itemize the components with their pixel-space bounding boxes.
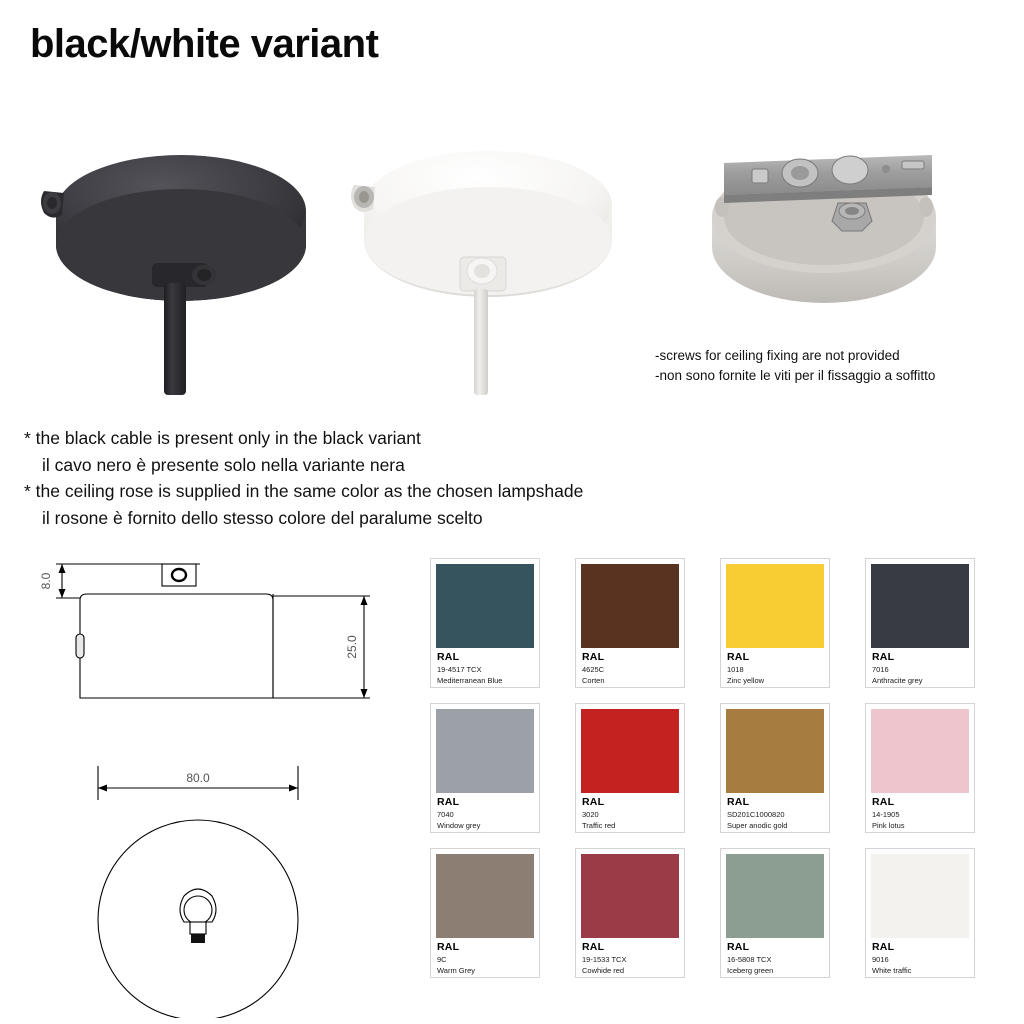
- swatch-name: Traffic red: [582, 820, 678, 831]
- swatch-name: Mediterranean Blue: [437, 675, 533, 686]
- swatch-meta: RAL 9C Warm Grey: [436, 938, 534, 977]
- dim-diameter-label: 80.0: [186, 771, 210, 785]
- swatch-color-chip: [436, 854, 534, 938]
- swatch-brand: RAL: [872, 941, 968, 954]
- interior-bracket-illustration: [690, 125, 960, 355]
- swatch-color-chip: [581, 854, 679, 938]
- swatch-meta: RAL 1018 Zinc yellow: [726, 648, 824, 687]
- swatch-code: 14-1905: [872, 809, 968, 820]
- screws-note: -screws for ceiling fixing are not provi…: [655, 346, 935, 385]
- swatch-name: Zinc yellow: [727, 675, 823, 686]
- screws-note-it: -non sono fornite le viti per il fissagg…: [655, 366, 935, 386]
- white-rose-illustration: [338, 133, 638, 395]
- swatch-color-chip: [436, 709, 534, 793]
- photo-black-ceiling-rose: [36, 133, 326, 395]
- swatch-meta: RAL 19-1533 TCX Cowhide red: [581, 938, 679, 977]
- swatch-name: Pink lotus: [872, 820, 968, 831]
- swatch-color-chip: [871, 709, 969, 793]
- photo-ceiling-rose-interior: [690, 125, 960, 355]
- swatch-color-chip: [581, 709, 679, 793]
- swatch-name: Iceberg green: [727, 965, 823, 976]
- swatch-name: Corten: [582, 675, 678, 686]
- swatch-code: SD201C1000820: [727, 809, 823, 820]
- swatch-code: 4625C: [582, 664, 678, 675]
- swatch-code: 19-4517 TCX: [437, 664, 533, 675]
- swatch-meta: RAL SD201C1000820 Super anodic gold: [726, 793, 824, 832]
- swatch-color-chip: [871, 564, 969, 648]
- swatch-meta: RAL 16-5808 TCX Iceberg green: [726, 938, 824, 977]
- swatch-card[interactable]: RAL 3020 Traffic red: [575, 703, 685, 833]
- photo-white-ceiling-rose: [338, 133, 638, 395]
- swatch-card[interactable]: RAL 9016 White traffic: [865, 848, 975, 978]
- swatch-meta: RAL 7016 Anthracite grey: [871, 648, 969, 687]
- swatch-code: 16-5808 TCX: [727, 954, 823, 965]
- technical-drawings: 8.0 25.0 80.0: [20, 548, 420, 1018]
- swatch-card[interactable]: RAL 9C Warm Grey: [430, 848, 540, 978]
- swatch-card[interactable]: RAL 1018 Zinc yellow: [720, 558, 830, 688]
- swatch-color-chip: [726, 854, 824, 938]
- swatch-card[interactable]: RAL 19-1533 TCX Cowhide red: [575, 848, 685, 978]
- swatch-code: 9016: [872, 954, 968, 965]
- swatch-meta: RAL 3020 Traffic red: [581, 793, 679, 832]
- swatch-card[interactable]: RAL 7016 Anthracite grey: [865, 558, 975, 688]
- drawing-canvas: 8.0 25.0 80.0: [20, 548, 420, 1018]
- note-2-it: il rosone è fornito dello stesso colore …: [24, 505, 583, 532]
- swatch-brand: RAL: [727, 651, 823, 664]
- swatch-color-chip: [871, 854, 969, 938]
- swatch-brand: RAL: [437, 796, 533, 809]
- swatch-meta: RAL 14-1905 Pink lotus: [871, 793, 969, 832]
- swatch-brand: RAL: [582, 796, 678, 809]
- swatch-card[interactable]: RAL 19-4517 TCX Mediterranean Blue: [430, 558, 540, 688]
- swatch-color-chip: [581, 564, 679, 648]
- swatch-card[interactable]: RAL 14-1905 Pink lotus: [865, 703, 975, 833]
- swatch-brand: RAL: [437, 651, 533, 664]
- swatch-meta: RAL 19-4517 TCX Mediterranean Blue: [436, 648, 534, 687]
- swatch-name: White traffic: [872, 965, 968, 976]
- swatch-brand: RAL: [437, 941, 533, 954]
- swatch-code: 1018: [727, 664, 823, 675]
- swatch-name: Warm Grey: [437, 965, 533, 976]
- swatch-code: 7040: [437, 809, 533, 820]
- variant-notes: * the black cable is present only in the…: [24, 425, 583, 531]
- swatch-name: Super anodic gold: [727, 820, 823, 831]
- swatch-color-chip: [726, 709, 824, 793]
- dim-height-label: 8.0: [39, 572, 53, 589]
- swatch-meta: RAL 4625C Corten: [581, 648, 679, 687]
- swatch-code: 3020: [582, 809, 678, 820]
- note-1-it: il cavo nero è presente solo nella varia…: [24, 452, 583, 479]
- swatch-name: Anthracite grey: [872, 675, 968, 686]
- swatch-brand: RAL: [582, 651, 678, 664]
- swatch-card[interactable]: RAL 4625C Corten: [575, 558, 685, 688]
- swatch-brand: RAL: [872, 651, 968, 664]
- swatch-meta: RAL 9016 White traffic: [871, 938, 969, 977]
- swatch-card[interactable]: RAL 16-5808 TCX Iceberg green: [720, 848, 830, 978]
- swatch-card[interactable]: RAL 7040 Window grey: [430, 703, 540, 833]
- swatch-code: 19-1533 TCX: [582, 954, 678, 965]
- note-2-en: * the ceiling rose is supplied in the sa…: [24, 478, 583, 505]
- black-rose-illustration: [36, 133, 326, 395]
- swatch-code: 9C: [437, 954, 533, 965]
- page-title: black/white variant: [30, 20, 378, 68]
- swatch-brand: RAL: [872, 796, 968, 809]
- swatch-brand: RAL: [727, 796, 823, 809]
- dim-depth-label: 25.0: [345, 635, 359, 659]
- swatch-card[interactable]: RAL SD201C1000820 Super anodic gold: [720, 703, 830, 833]
- product-spec-sheet: black/white variant: [0, 0, 1024, 1024]
- swatch-name: Cowhide red: [582, 965, 678, 976]
- swatch-color-chip: [436, 564, 534, 648]
- screws-note-en: -screws for ceiling fixing are not provi…: [655, 346, 935, 366]
- note-1-en: * the black cable is present only in the…: [24, 425, 583, 452]
- swatch-brand: RAL: [582, 941, 678, 954]
- swatch-meta: RAL 7040 Window grey: [436, 793, 534, 832]
- swatch-name: Window grey: [437, 820, 533, 831]
- swatch-brand: RAL: [727, 941, 823, 954]
- color-swatch-grid: RAL 19-4517 TCX Mediterranean Blue RAL 4…: [430, 558, 1010, 978]
- swatch-code: 7016: [872, 664, 968, 675]
- swatch-color-chip: [726, 564, 824, 648]
